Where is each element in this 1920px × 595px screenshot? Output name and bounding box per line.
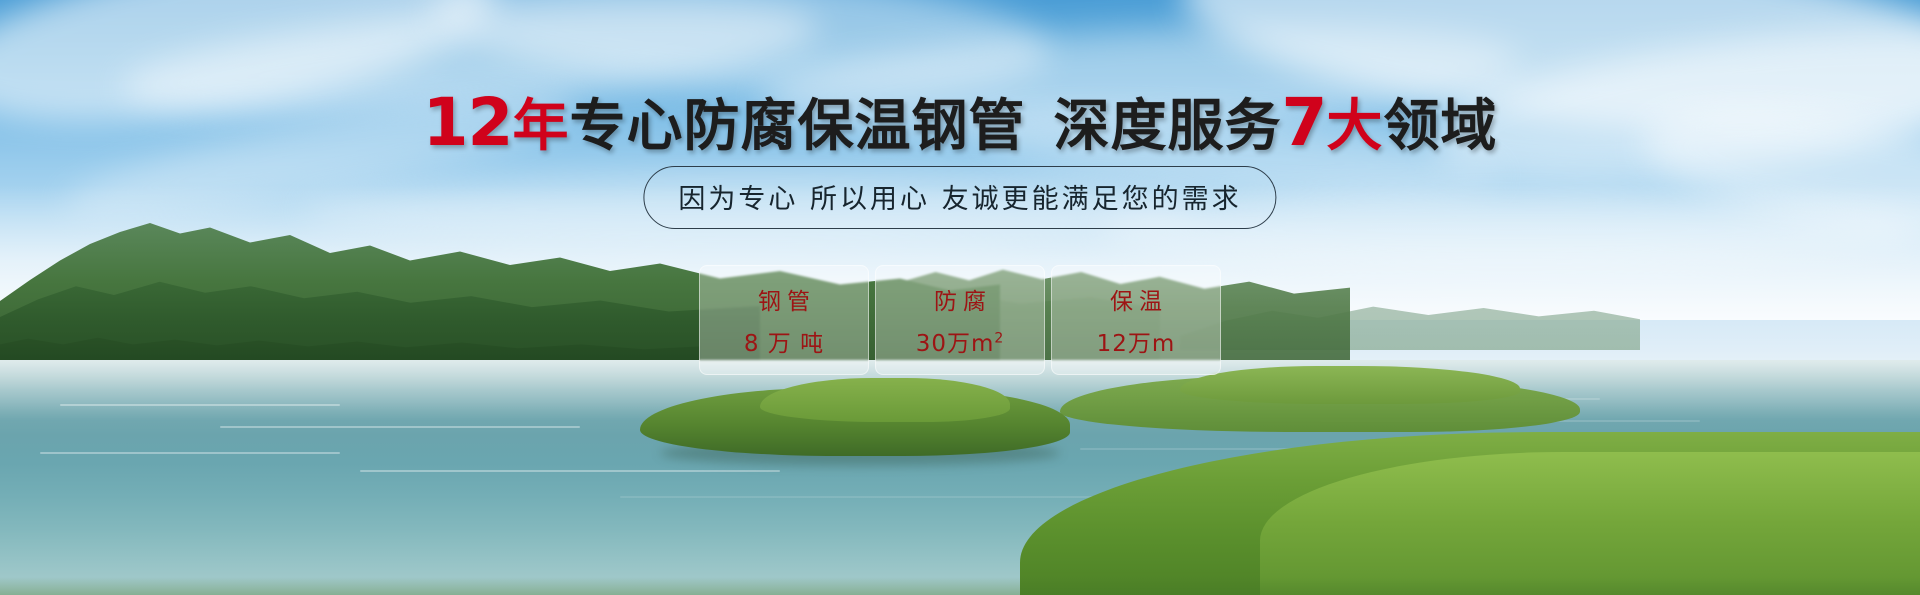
stat-label: 钢管 bbox=[752, 282, 816, 316]
banner-headline: 12年专心防腐保温钢管深度服务7大领域 bbox=[0, 86, 1920, 160]
headline-service-text: 深度服务 bbox=[1053, 94, 1281, 159]
water-ripple bbox=[620, 496, 1120, 498]
headline-years-unit: 年 bbox=[512, 94, 569, 159]
water-ripple bbox=[60, 404, 340, 406]
water-ripple bbox=[40, 452, 340, 454]
stat-value-text: 12万m bbox=[1097, 331, 1176, 357]
headline-main-text: 专心防腐保温钢管 bbox=[569, 94, 1025, 159]
stat-value-text: 30万m bbox=[916, 331, 995, 357]
hero-banner: 12年专心防腐保温钢管深度服务7大领域 因为专心 所以用心 友诚更能满足您的需求… bbox=[0, 0, 1920, 595]
stat-card-steel-pipe: 钢管 8 万 吨 bbox=[699, 265, 869, 375]
grass-bottom-shade bbox=[0, 577, 1920, 595]
water-ripple bbox=[220, 426, 580, 428]
marsh-vegetation bbox=[1180, 366, 1520, 404]
stat-card-anticorrosion: 防腐 30万m2 bbox=[875, 265, 1045, 375]
headline-fields-unit: 大 bbox=[1326, 94, 1383, 159]
stat-value-superscript: 2 bbox=[994, 330, 1004, 346]
water-ripple bbox=[360, 470, 780, 472]
headline-fields-text: 领域 bbox=[1383, 94, 1497, 159]
headline-fields-number: 7 bbox=[1281, 84, 1326, 161]
subtitle-text: 因为专心 所以用心 友诚更能满足您的需求 bbox=[678, 177, 1241, 216]
stat-value: 30万m2 bbox=[916, 324, 1005, 358]
stat-value: 12万m bbox=[1097, 324, 1176, 358]
stat-label: 保温 bbox=[1104, 282, 1168, 316]
stat-card-insulation: 保温 12万m bbox=[1051, 265, 1221, 375]
stat-card-group: 钢管 8 万 吨 防腐 30万m2 保温 12万m bbox=[699, 265, 1221, 375]
stat-value-text: 8 万 吨 bbox=[744, 331, 824, 357]
subtitle-pill: 因为专心 所以用心 友诚更能满足您的需求 bbox=[643, 166, 1276, 229]
headline-years-number: 12 bbox=[423, 84, 513, 161]
grass-island-top bbox=[760, 378, 1010, 422]
stat-label: 防腐 bbox=[928, 282, 992, 316]
stat-value: 8 万 吨 bbox=[744, 324, 824, 358]
